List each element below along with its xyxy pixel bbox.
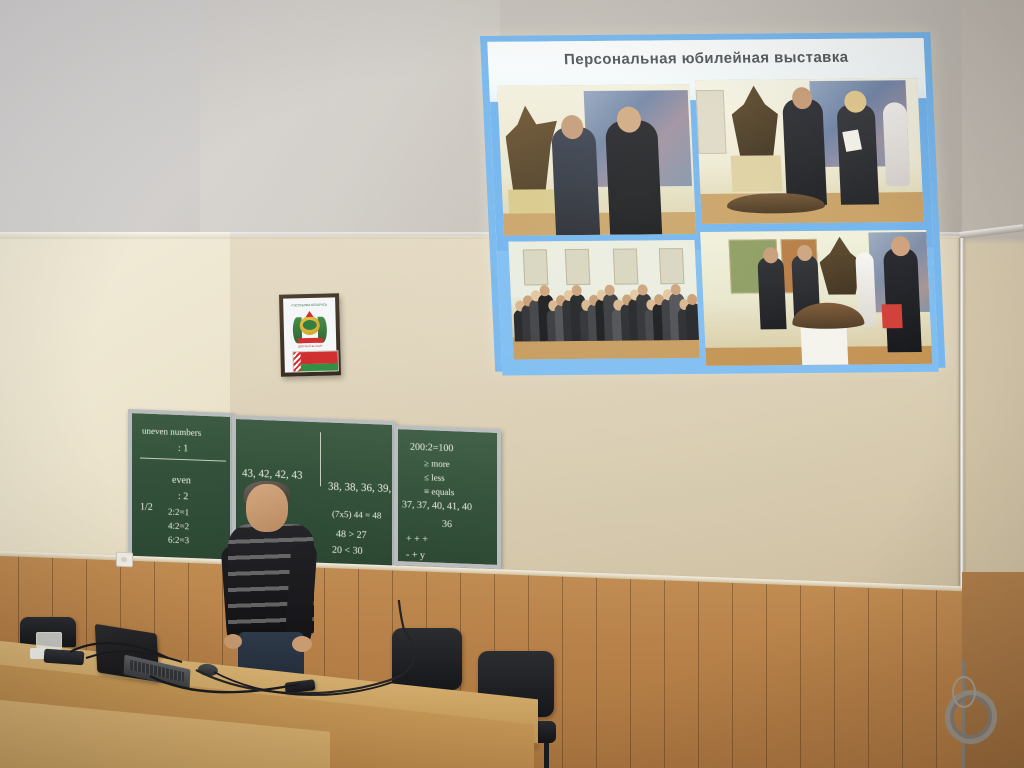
wainscot-seam xyxy=(834,587,835,768)
emblem-title-text: РЭСПУБЛІКА БЕЛАРУСЬ xyxy=(283,302,335,307)
chalk-line: - + y xyxy=(406,549,425,561)
wainscot-seam xyxy=(664,580,665,768)
projected-slide: Персональная юбилейная выставка xyxy=(480,32,946,376)
emblem-inner: РЭСПУБЛІКА БЕЛАРУСЬ ДЗЯРЖАЎНЫ СЦЯГ xyxy=(283,297,337,372)
wainscot-seam xyxy=(766,584,767,768)
wall-right-plane xyxy=(962,0,1024,660)
wainscot-seam xyxy=(562,577,563,768)
board-panel-left: uneven numbers: 1even: 21/22:2=14:2=26:2… xyxy=(128,409,234,572)
chalk-line: (7x5) 44 = 48 xyxy=(332,509,381,521)
slide-photo-bottom-right xyxy=(700,230,932,366)
crowd-head xyxy=(637,284,648,295)
presenter xyxy=(222,484,318,684)
chalk-line: 48 > 27 xyxy=(336,529,367,541)
slide-photo-bottom-left xyxy=(508,240,699,360)
presenter-head xyxy=(246,484,288,532)
wainscot-seam xyxy=(902,589,903,768)
chalk-line: 36 xyxy=(442,519,452,530)
slide-frame: Персональная юбилейная выставка xyxy=(480,32,946,372)
chalk-line: even xyxy=(172,475,191,487)
wall-upper-left xyxy=(0,0,200,240)
wainscot-seam xyxy=(698,582,699,768)
emblem-sub-text: ДЗЯРЖАЎНЫ СЦЯГ xyxy=(284,344,336,348)
chalk-line: 1/2 xyxy=(140,501,153,512)
chalk-line: 2:2=1 xyxy=(168,507,189,518)
belarus-crest-icon xyxy=(292,311,327,344)
chalk-line: 4:2=2 xyxy=(168,521,189,532)
wall-upper-middle xyxy=(170,0,500,245)
wall-outlet[interactable] xyxy=(116,552,133,568)
chalk-line: uneven numbers xyxy=(142,426,201,438)
chalk-line: 43, 42, 42, 43 xyxy=(242,467,303,481)
slide-inner: Персональная юбилейная выставка xyxy=(487,38,938,365)
wainscot-seam xyxy=(596,578,597,768)
wainscot-seam xyxy=(868,588,869,768)
chalk-line: : 1 xyxy=(178,443,188,454)
power-adapter[interactable] xyxy=(44,649,85,666)
crowd-head xyxy=(670,284,681,295)
board-panel-right: 200:2=100≥ more≤ less≡ equals37, 37, 40,… xyxy=(394,425,501,569)
chalk-line: ≥ more xyxy=(424,458,450,469)
chalk-line: + + + xyxy=(406,533,428,545)
chalk-line: 200:2=100 xyxy=(410,442,453,455)
wainscot-seam xyxy=(630,579,631,768)
presenter-right-hand xyxy=(292,636,312,652)
wainscot-seam xyxy=(800,585,801,768)
wainscot-seam xyxy=(936,590,937,768)
chalk-line: ≡ equals xyxy=(424,486,454,497)
crowd-head xyxy=(539,285,550,296)
chalk-line: ≤ less xyxy=(424,472,445,483)
classroom-scene: Персональная юбилейная выставка xyxy=(0,0,1024,768)
framed-state-emblem: РЭСПУБЛІКА БЕЛАРУСЬ ДЗЯРЖАЎНЫ СЦЯГ xyxy=(279,293,341,376)
chalk-line: 20 < 30 xyxy=(332,545,363,557)
wainscot-seam xyxy=(732,583,733,768)
slide-photo-top-left xyxy=(497,84,696,236)
slide-photo-top-right xyxy=(695,78,924,224)
presenter-left-hand xyxy=(224,634,242,649)
belarus-flag-icon xyxy=(292,350,338,372)
chalk-line: : 2 xyxy=(178,491,188,502)
chalk-line: 6:2=3 xyxy=(168,535,189,546)
chalk-line: 37, 37, 40, 41, 40 xyxy=(402,499,472,513)
cable-coil-small xyxy=(952,676,976,708)
